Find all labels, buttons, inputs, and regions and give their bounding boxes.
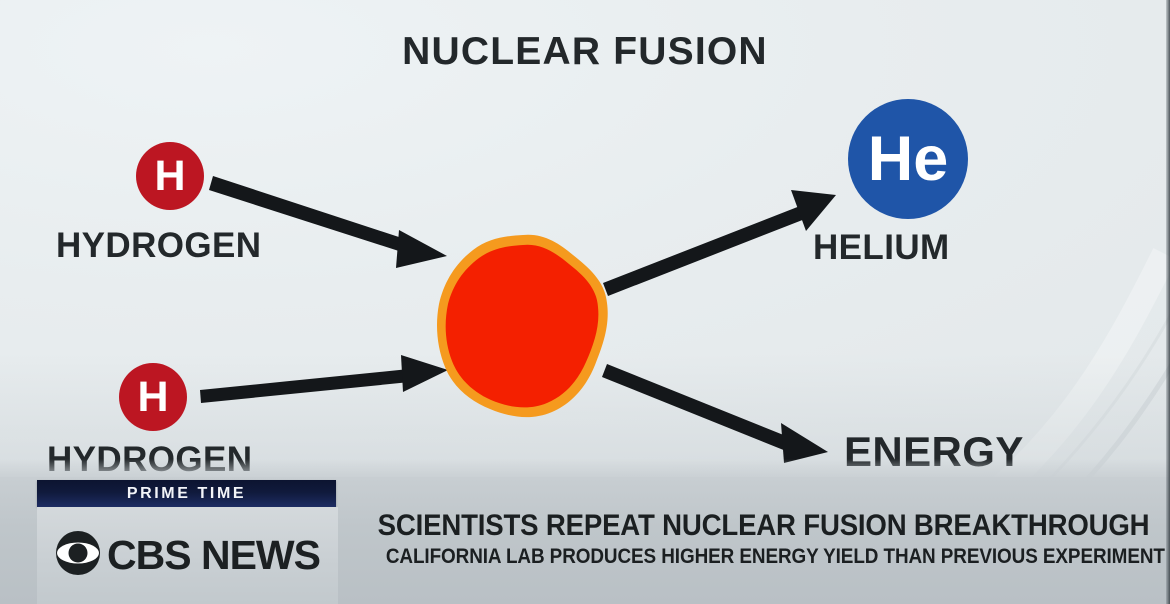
fusion-core-blob xyxy=(435,233,610,418)
network-logo-panel: CBS NEWS xyxy=(37,507,338,604)
label-helium: HELIUM xyxy=(813,228,950,268)
cbs-eye-icon xyxy=(55,530,101,581)
atom-helium: He xyxy=(848,99,968,219)
atom-hydrogen-2: H xyxy=(119,363,187,431)
atom-symbol: H xyxy=(154,155,185,198)
prime-time-label: PRIME TIME xyxy=(127,485,246,503)
page-title: NUCLEAR FUSION xyxy=(0,30,1170,74)
network-name: CBS NEWS xyxy=(107,532,320,579)
prime-time-banner: PRIME TIME xyxy=(37,480,336,507)
atom-hydrogen-1: H xyxy=(136,142,204,210)
right-edge-shadow xyxy=(1166,0,1170,604)
atom-symbol: He xyxy=(868,128,949,191)
headline-text: SCIENTISTS REPEAT NUCLEAR FUSION BREAKTH… xyxy=(378,509,1130,543)
label-hydrogen-1: HYDROGEN xyxy=(56,226,261,266)
atom-symbol: H xyxy=(137,376,168,419)
broadcast-screenshot: NUCLEAR FUSION H HYDROGE xyxy=(0,0,1170,604)
lower-third-top-fade xyxy=(0,459,1170,479)
subhead-text: CALIFORNIA LAB PRODUCES HIGHER ENERGY YI… xyxy=(386,545,1121,569)
headline-block: SCIENTISTS REPEAT NUCLEAR FUSION BREAKTH… xyxy=(345,509,1162,569)
lower-third: PRIME TIME CBS NEWS SCIENTISTS REPEAT NU… xyxy=(0,477,1170,604)
